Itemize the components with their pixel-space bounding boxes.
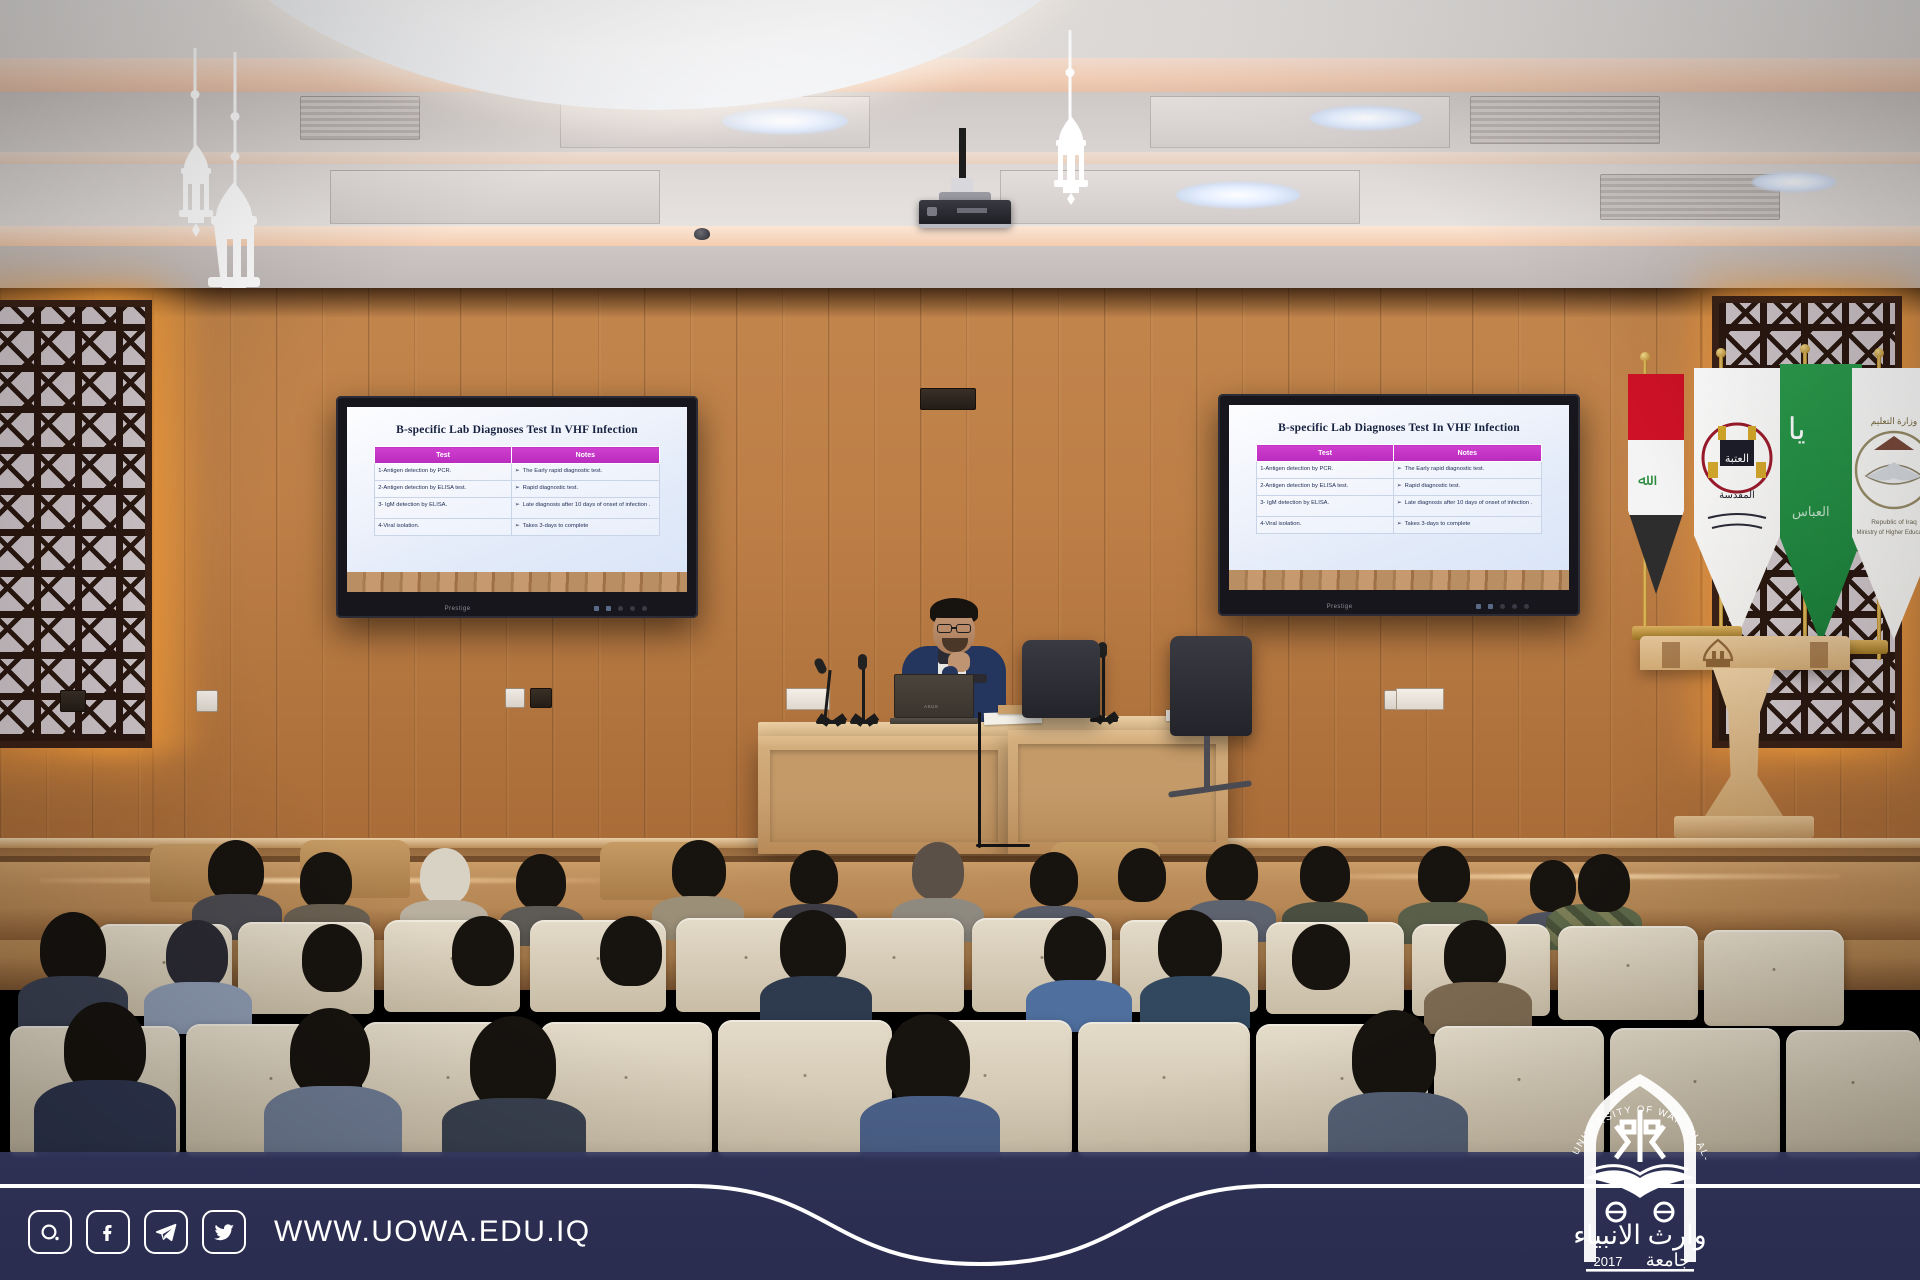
audience-head bbox=[208, 840, 264, 902]
cell-test: 2-Antigen detection by ELISA test. bbox=[1257, 479, 1394, 496]
podium bbox=[1640, 636, 1850, 852]
slide-table: Test Notes 1-Antigen detection by PCR. ➢… bbox=[1256, 444, 1542, 534]
audience-head bbox=[1418, 846, 1470, 904]
cell-note: ➢Late diagnosis after 10 days of onset o… bbox=[1393, 496, 1541, 517]
column-header-notes: Notes bbox=[1393, 445, 1541, 462]
ceiling-projector bbox=[905, 128, 1025, 248]
cell-test: 4-Viral isolation. bbox=[375, 519, 512, 536]
column-header-notes: Notes bbox=[511, 447, 659, 464]
audience-head bbox=[452, 916, 514, 986]
audience-head bbox=[1158, 910, 1222, 982]
display-button[interactable] bbox=[642, 606, 647, 611]
display-controls[interactable] bbox=[594, 606, 647, 611]
display-button[interactable] bbox=[606, 606, 611, 611]
audience-head bbox=[302, 924, 362, 992]
presentation-slide: B-specific Lab Diagnoses Test In VHF Inf… bbox=[1229, 405, 1569, 590]
chair bbox=[1022, 640, 1100, 718]
instagram-icon[interactable] bbox=[28, 1210, 72, 1254]
column-header-test: Test bbox=[1257, 445, 1394, 462]
right-display[interactable]: B-specific Lab Diagnoses Test In VHF Inf… bbox=[1218, 394, 1580, 616]
table-row: 3- IgM detection by ELISA. ➢Late diagnos… bbox=[375, 498, 660, 519]
audience-head bbox=[600, 916, 662, 986]
cell-test: 4-Viral isolation. bbox=[1257, 517, 1394, 534]
logo-arabic-main: وارث الانبياء bbox=[1573, 1220, 1706, 1251]
slide-table: Test Notes 1-Antigen detection by PCR. ➢… bbox=[374, 446, 660, 536]
wall-socket bbox=[920, 388, 976, 410]
bullet-arrow-icon: ➢ bbox=[1397, 466, 1402, 472]
table-row: 3- IgM detection by ELISA. ➢Late diagnos… bbox=[1257, 496, 1542, 517]
audience-head bbox=[300, 852, 352, 910]
audience-head bbox=[1044, 916, 1106, 986]
cell-note: ➢The Early rapid diagnostic test. bbox=[1393, 462, 1541, 479]
table-row: 4-Viral isolation. ➢Takes 3-days to comp… bbox=[375, 519, 660, 536]
slide-title: B-specific Lab Diagnoses Test In VHF Inf… bbox=[1229, 422, 1569, 434]
lecture-table-group: ASUS bbox=[770, 600, 1240, 900]
display-button[interactable] bbox=[1524, 604, 1529, 609]
cell-note: ➢The Early rapid diagnostic test. bbox=[511, 464, 659, 481]
microphone bbox=[848, 662, 882, 734]
wall-sign bbox=[1396, 688, 1444, 710]
bullet-arrow-icon: ➢ bbox=[1397, 500, 1402, 506]
chair bbox=[1170, 636, 1252, 736]
svg-text:المقدسة: المقدسة bbox=[1719, 490, 1755, 501]
bullet-arrow-icon: ➢ bbox=[515, 523, 520, 529]
eyeglasses-icon bbox=[956, 624, 971, 633]
audience-head bbox=[1578, 854, 1630, 912]
cell-note: ➢Rapid diagnostic test. bbox=[511, 481, 659, 498]
cell-note: ➢Takes 3-days to complete bbox=[1393, 517, 1541, 534]
ministry-of-higher-education-flag: وزارة التعليم Republic of Iraq Ministry … bbox=[1852, 348, 1920, 660]
audience-head bbox=[1292, 924, 1350, 990]
telegram-icon[interactable] bbox=[144, 1210, 188, 1254]
logo-arabic-sub: جامعة bbox=[1646, 1250, 1691, 1270]
auditorium-photo: B-specific Lab Diagnoses Test In VHF Inf… bbox=[0, 0, 1920, 1280]
logo-year: 2017 bbox=[1594, 1254, 1623, 1269]
svg-text:العتبة: العتبة bbox=[1725, 453, 1749, 465]
display-button[interactable] bbox=[1500, 604, 1505, 609]
slide-title: B-specific Lab Diagnoses Test In VHF Inf… bbox=[347, 424, 687, 436]
audience-head bbox=[290, 1008, 370, 1098]
hanging-lantern bbox=[180, 52, 290, 282]
audience-head bbox=[672, 840, 726, 900]
microphone bbox=[814, 658, 850, 736]
footer-overlay: WWW.UOWA.EDU.IQ UNIVERSITY OF WARITH AL-… bbox=[0, 1152, 1920, 1280]
svg-text:وزارة التعليم: وزارة التعليم bbox=[1871, 416, 1918, 427]
facebook-icon[interactable] bbox=[86, 1210, 130, 1254]
audience-head bbox=[40, 912, 106, 986]
wall-socket bbox=[505, 688, 525, 708]
audience-head bbox=[1030, 852, 1078, 906]
website-url[interactable]: WWW.UOWA.EDU.IQ bbox=[274, 1215, 591, 1249]
wall-socket bbox=[60, 690, 86, 712]
cell-test: 1-Antigen detection by PCR. bbox=[375, 464, 512, 481]
audience-head bbox=[166, 920, 228, 990]
svg-text:Republic of Iraq: Republic of Iraq bbox=[1871, 519, 1917, 526]
ceiling bbox=[0, 0, 1920, 300]
presentation-slide: B-specific Lab Diagnoses Test In VHF Inf… bbox=[347, 407, 687, 592]
audience-head bbox=[1118, 848, 1166, 902]
university-logo: UNIVERSITY OF WARITH AL-ANBIYAA وارث الا… bbox=[1556, 1066, 1724, 1272]
audience-head bbox=[516, 854, 566, 910]
display-brand-label: Prestige bbox=[1327, 604, 1353, 610]
table-row: 1-Antigen detection by PCR. ➢The Early r… bbox=[375, 464, 660, 481]
cell-note: ➢Rapid diagnostic test. bbox=[1393, 479, 1541, 496]
table-row: 4-Viral isolation. ➢Takes 3-days to comp… bbox=[1257, 517, 1542, 534]
table-row: 2-Antigen detection by ELISA test. ➢Rapi… bbox=[1257, 479, 1542, 496]
seat[interactable] bbox=[1078, 1022, 1250, 1156]
cable bbox=[978, 712, 981, 848]
audience-head bbox=[1300, 846, 1350, 902]
column-header-test: Test bbox=[375, 447, 512, 464]
display-button[interactable] bbox=[1476, 604, 1481, 609]
bullet-arrow-icon: ➢ bbox=[1397, 483, 1402, 489]
audience-head bbox=[886, 1014, 970, 1108]
wall-socket bbox=[530, 688, 552, 708]
bullet-arrow-icon: ➢ bbox=[515, 502, 520, 508]
audience-head bbox=[420, 848, 470, 904]
display-button[interactable] bbox=[594, 606, 599, 611]
wall-socket bbox=[196, 690, 218, 712]
audience-head bbox=[912, 842, 964, 900]
iraq-flag: ﷲ bbox=[1628, 352, 1698, 652]
audience-head bbox=[1444, 920, 1506, 990]
cell-test: 2-Antigen detection by ELISA test. bbox=[375, 481, 512, 498]
laptop[interactable]: ASUS bbox=[890, 674, 978, 728]
mashrabiya-panel-left bbox=[0, 300, 152, 748]
display-controls[interactable] bbox=[1476, 604, 1529, 609]
audience-head bbox=[1530, 860, 1576, 912]
laptop-brand-label: ASUS bbox=[924, 704, 938, 709]
display-button[interactable] bbox=[1488, 604, 1493, 609]
audience-head bbox=[780, 910, 846, 984]
cell-test: 3- IgM detection by ELISA. bbox=[1257, 496, 1394, 517]
seat[interactable] bbox=[1786, 1030, 1920, 1158]
bullet-arrow-icon: ➢ bbox=[1397, 521, 1402, 527]
cell-test: 1-Antigen detection by PCR. bbox=[1257, 462, 1394, 479]
audience-head bbox=[790, 850, 838, 904]
display-button[interactable] bbox=[630, 606, 635, 611]
audience-head bbox=[1352, 1010, 1436, 1104]
display-brand-label: Prestige bbox=[445, 606, 471, 612]
security-camera-icon bbox=[694, 228, 710, 240]
hanging-lantern bbox=[1035, 30, 1105, 200]
bullet-arrow-icon: ➢ bbox=[515, 485, 520, 491]
eyeglasses-icon bbox=[937, 624, 952, 633]
seat[interactable] bbox=[1704, 930, 1844, 1026]
cable bbox=[976, 844, 1030, 847]
display-button[interactable] bbox=[618, 606, 623, 611]
bullet-arrow-icon: ➢ bbox=[515, 468, 520, 474]
display-button[interactable] bbox=[1512, 604, 1517, 609]
holy-shrine-flag: العتبة المقدسة bbox=[1694, 348, 1794, 658]
cell-note: ➢Late diagnosis after 10 days of onset o… bbox=[511, 498, 659, 519]
cell-test: 3- IgM detection by ELISA. bbox=[375, 498, 512, 519]
audience-head bbox=[1206, 844, 1258, 902]
seat[interactable] bbox=[1558, 926, 1698, 1020]
table-row: 2-Antigen detection by ELISA test. ➢Rapi… bbox=[375, 481, 660, 498]
cell-note: ➢Takes 3-days to complete bbox=[511, 519, 659, 536]
twitter-icon[interactable] bbox=[202, 1210, 246, 1254]
left-display[interactable]: B-specific Lab Diagnoses Test In VHF Inf… bbox=[336, 396, 698, 618]
table-row: 1-Antigen detection by PCR. ➢The Early r… bbox=[1257, 462, 1542, 479]
svg-text:Ministry of Higher Education: Ministry of Higher Education bbox=[1856, 530, 1920, 536]
